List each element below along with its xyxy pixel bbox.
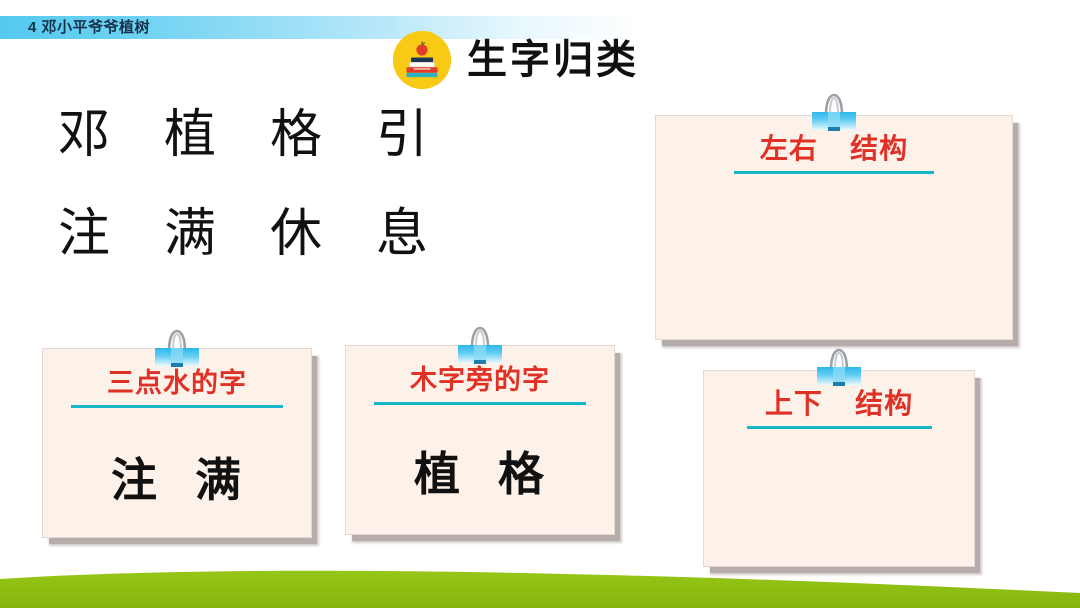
card-header: 左右 结构 bbox=[656, 134, 1012, 174]
note-card-zuoyou[interactable]: 左右 结构 bbox=[655, 115, 1013, 340]
card-underline bbox=[734, 171, 934, 174]
card-title: 上下 结构 bbox=[704, 389, 974, 420]
character-cell: 息 bbox=[376, 203, 428, 265]
card-underline bbox=[747, 426, 932, 429]
books-apple-icon bbox=[393, 31, 451, 89]
character-cell: 引 bbox=[376, 104, 428, 166]
slide-canvas: 4 邓小平爷爷植树 生字归类 邓 植 格 bbox=[0, 0, 1080, 608]
character-cell: 满 bbox=[164, 203, 216, 265]
card-underline bbox=[374, 402, 586, 405]
card-title: 三点水的字 bbox=[43, 369, 311, 399]
binder-clip-icon bbox=[811, 344, 867, 392]
lesson-title: 4 邓小平爷爷植树 bbox=[28, 17, 150, 38]
binder-clip-icon bbox=[452, 322, 508, 370]
character-cell: 注 bbox=[58, 203, 110, 265]
character-cell: 格 bbox=[270, 104, 322, 166]
footer-hill-decoration bbox=[0, 560, 1080, 608]
card-body-characters: 注 满 bbox=[43, 444, 311, 510]
page-title: 生字归类 bbox=[467, 40, 639, 80]
card-title: 木字旁的字 bbox=[346, 366, 614, 396]
character-row-2: 注 满 休 息 bbox=[58, 203, 428, 265]
card-header: 三点水的字 bbox=[43, 369, 311, 408]
character-list: 邓 植 格 引 注 满 休 息 bbox=[58, 104, 428, 302]
character-cell: 植 bbox=[164, 104, 216, 166]
character-row-1: 邓 植 格 引 bbox=[58, 104, 428, 166]
card-body-characters: 植 格 bbox=[346, 438, 614, 504]
character-cell: 邓 bbox=[58, 104, 110, 166]
note-card-shangxia[interactable]: 上下 结构 bbox=[703, 370, 975, 567]
binder-clip-icon bbox=[806, 89, 862, 137]
note-card-sandianshui[interactable]: 三点水的字 注 满 bbox=[42, 348, 312, 538]
character-cell: 休 bbox=[270, 203, 322, 265]
card-title: 左右 结构 bbox=[656, 134, 1012, 165]
note-card-muzipang[interactable]: 木字旁的字 植 格 bbox=[345, 345, 615, 535]
card-underline bbox=[71, 405, 283, 408]
binder-clip-icon bbox=[149, 325, 205, 373]
slide-title-group: 生字归类 bbox=[393, 31, 639, 89]
card-header: 木字旁的字 bbox=[346, 366, 614, 405]
card-header: 上下 结构 bbox=[704, 389, 974, 429]
